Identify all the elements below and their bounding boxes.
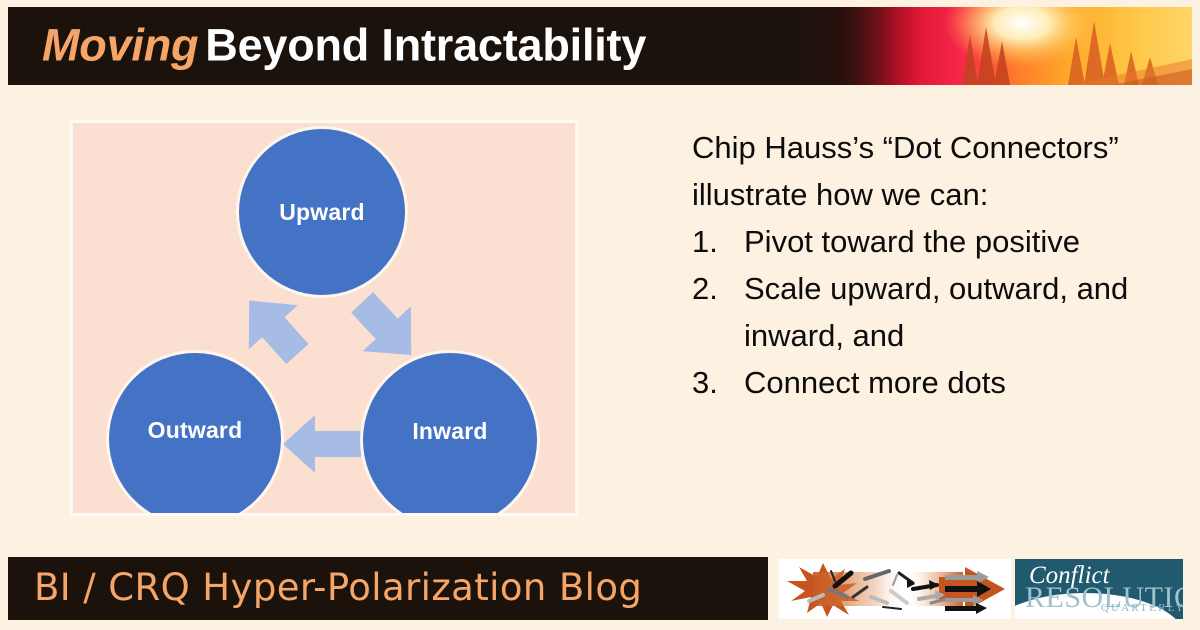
footer-title: BI / CRQ Hyper-Polarization Blog [34, 565, 642, 608]
node-upward-label: Upward [279, 199, 365, 226]
conflict-resolution-quarterly-logo[interactable]: Conflict RESOLUTION QUARTERLY [1015, 559, 1183, 619]
list-item: 2. Scale upward, outward, and inward, an… [692, 265, 1162, 359]
step-text: Scale upward, outward, and inward, and [744, 265, 1162, 359]
steps-list: 1. Pivot toward the positive 2. Scale up… [692, 218, 1162, 406]
list-item: 3. Connect more dots [692, 359, 1162, 406]
slide-canvas: MovingBeyond Intractability Upward Outwa… [0, 0, 1200, 630]
node-inward-label: Inward [412, 418, 487, 445]
page-title-emphasis: Moving [42, 20, 205, 71]
node-upward[interactable]: Upward [239, 129, 405, 295]
node-outward[interactable]: Outward [109, 353, 281, 516]
bi-arrows-logo-graphic [779, 559, 1011, 619]
step-number: 3. [692, 359, 744, 406]
list-item: 1. Pivot toward the positive [692, 218, 1162, 265]
body-text-block: Chip Hauss’s “Dot Connectors” illustrate… [692, 124, 1162, 406]
intro-paragraph: Chip Hauss’s “Dot Connectors” illustrate… [692, 124, 1162, 218]
sunset-forest-photo [772, 7, 1192, 85]
step-text: Connect more dots [744, 359, 1162, 406]
arrow-outward-to-upward-icon [219, 283, 329, 373]
step-number: 2. [692, 265, 744, 359]
page-title-rest: Beyond Intractability [205, 20, 646, 71]
step-number: 1. [692, 218, 744, 265]
crq-quarterly-text: QUARTERLY [1101, 602, 1183, 614]
node-outward-label: Outward [148, 417, 243, 444]
arrow-inward-to-outward-icon [279, 411, 365, 477]
sunset-forest-graphic [772, 7, 1192, 85]
node-inward[interactable]: Inward [363, 353, 537, 516]
header-bar: MovingBeyond Intractability [8, 7, 1192, 85]
footer-bar: BI / CRQ Hyper-Polarization Blog [8, 557, 768, 620]
step-text: Pivot toward the positive [744, 218, 1162, 265]
page-title: MovingBeyond Intractability [42, 23, 646, 68]
cycle-diagram-panel: Upward Outward Inward [70, 120, 578, 516]
bi-arrows-logo[interactable] [779, 559, 1011, 619]
